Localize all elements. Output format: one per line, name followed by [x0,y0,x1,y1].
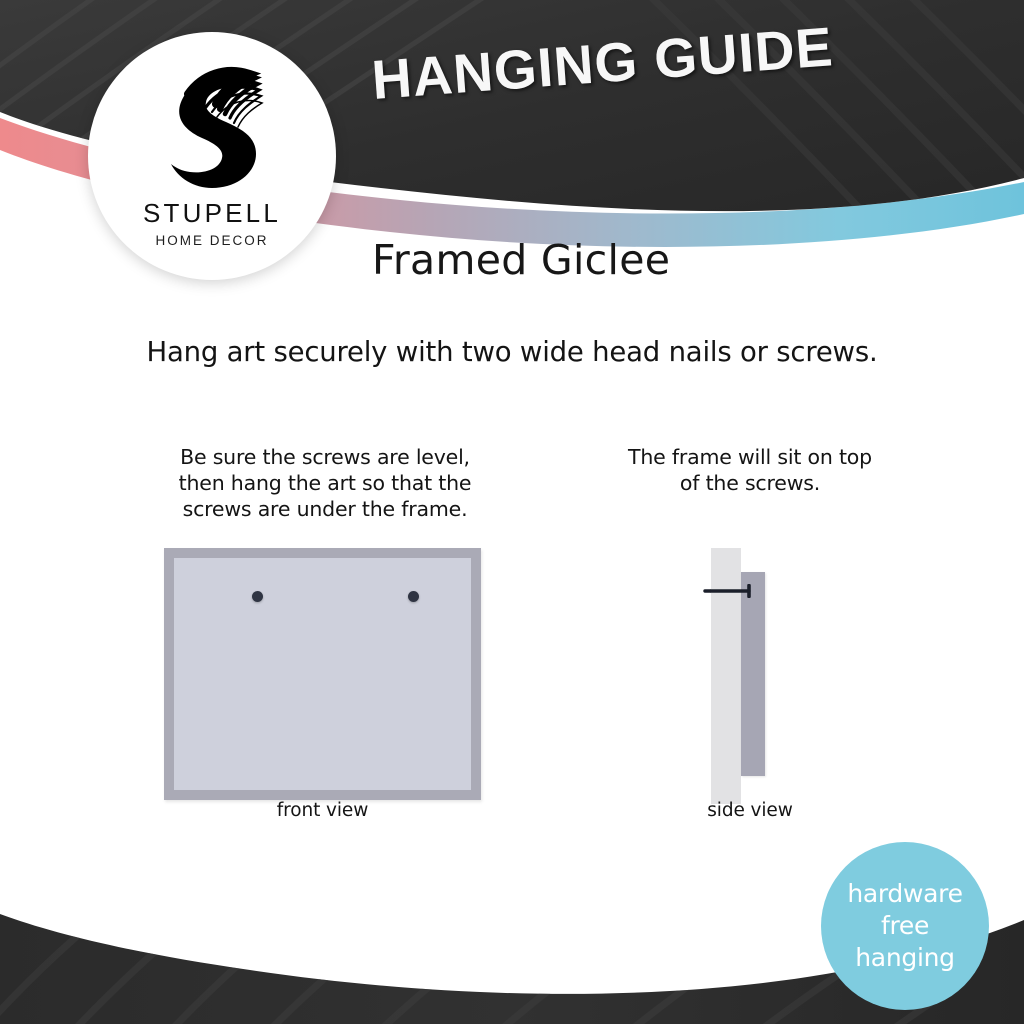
front-view-frame-diagram [164,548,481,800]
front-view-panel: Be sure the screws are level, then hang … [150,444,500,522]
brand-logo-badge: STUPELL HOME DECOR [88,32,336,280]
side-view-panel: The frame will sit on top of the screws.… [590,444,910,496]
side-caption-line-1: The frame will sit on top [590,444,910,470]
side-view-frame-diagram [741,572,765,776]
side-view-label: side view [590,800,910,821]
screw-dot-left [252,591,263,602]
front-caption-line-1: Be sure the screws are level, [150,444,500,470]
page-title: HANGING GUIDE [370,14,836,112]
brand-tagline: HOME DECOR [155,233,268,248]
front-view-label: front view [150,800,495,821]
hardware-free-hanging-badge: hardware free hanging [821,842,989,1010]
front-caption-line-2: then hang the art so that the [150,470,500,496]
brand-name: STUPELL [143,198,281,229]
nail-icon [703,584,759,598]
badge-line-1: hardware [847,878,962,910]
front-caption-line-3: screws are under the frame. [150,496,500,522]
hanging-guide-page: STUPELL HOME DECOR HANGING GUIDE Framed … [0,0,1024,1024]
screw-dot-right [408,591,419,602]
front-view-mat [174,558,471,790]
badge-line-3: hanging [855,942,954,974]
stupell-swoosh-icon [154,54,270,194]
main-instruction: Hang art securely with two wide head nai… [0,336,1024,368]
front-view-caption: Be sure the screws are level, then hang … [150,444,500,522]
side-caption-line-2: of the screws. [590,470,910,496]
badge-line-2: free [881,910,929,942]
side-view-caption: The frame will sit on top of the screws. [590,444,910,496]
product-type-label: Framed Giclee [372,236,670,284]
